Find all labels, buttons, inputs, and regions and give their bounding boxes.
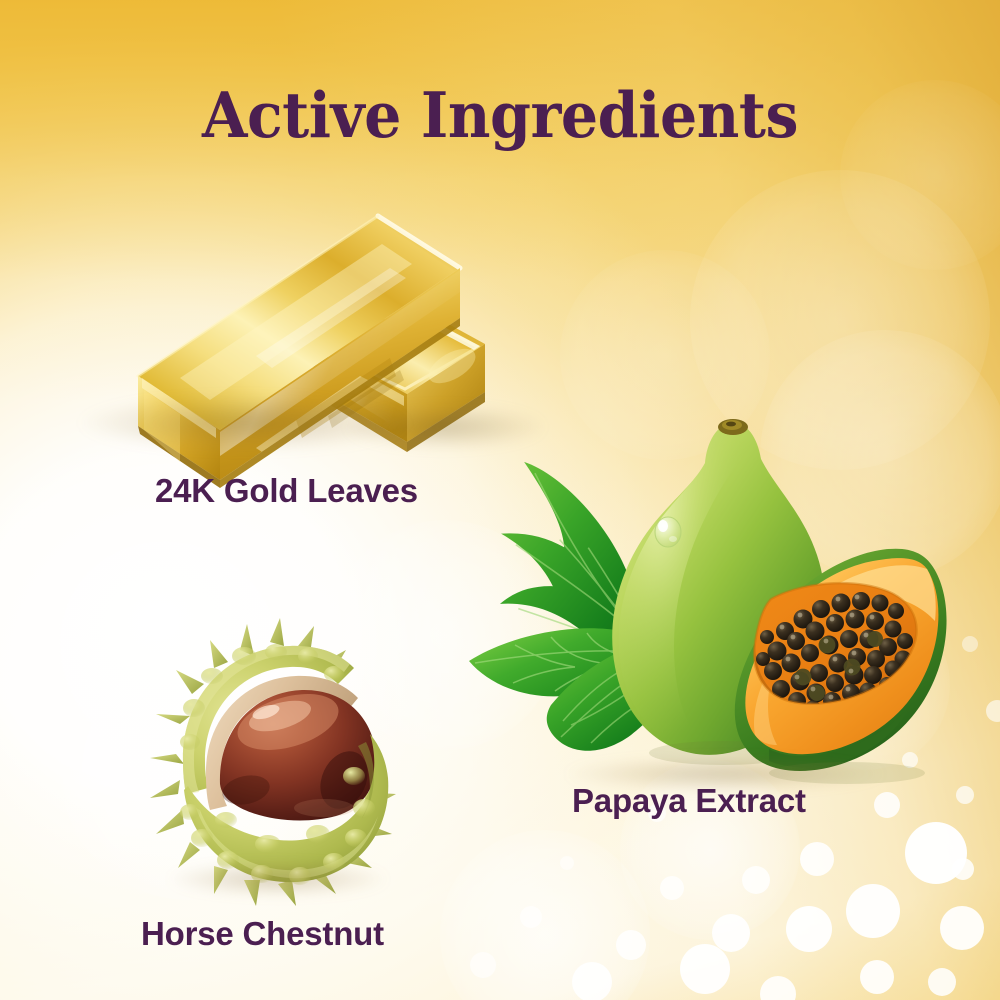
- ingredient-label-gold-leaves: 24K Gold Leaves: [155, 472, 418, 510]
- water-droplet-icon: [655, 517, 681, 547]
- page-title: Active Ingredients: [35, 78, 965, 152]
- horse-chestnut-illustration: [148, 612, 418, 902]
- gold-bars-icon: [60, 180, 500, 480]
- active-ingredients-poster: Active Ingredients: [0, 0, 1000, 1000]
- ingredient-label-horse-chestnut: Horse Chestnut: [141, 915, 384, 953]
- ingredient-label-papaya-extract: Papaya Extract: [572, 782, 806, 820]
- horse-chestnut-icon: [148, 612, 418, 902]
- papaya-icon: [455, 405, 955, 795]
- papaya-illustration: [455, 405, 955, 795]
